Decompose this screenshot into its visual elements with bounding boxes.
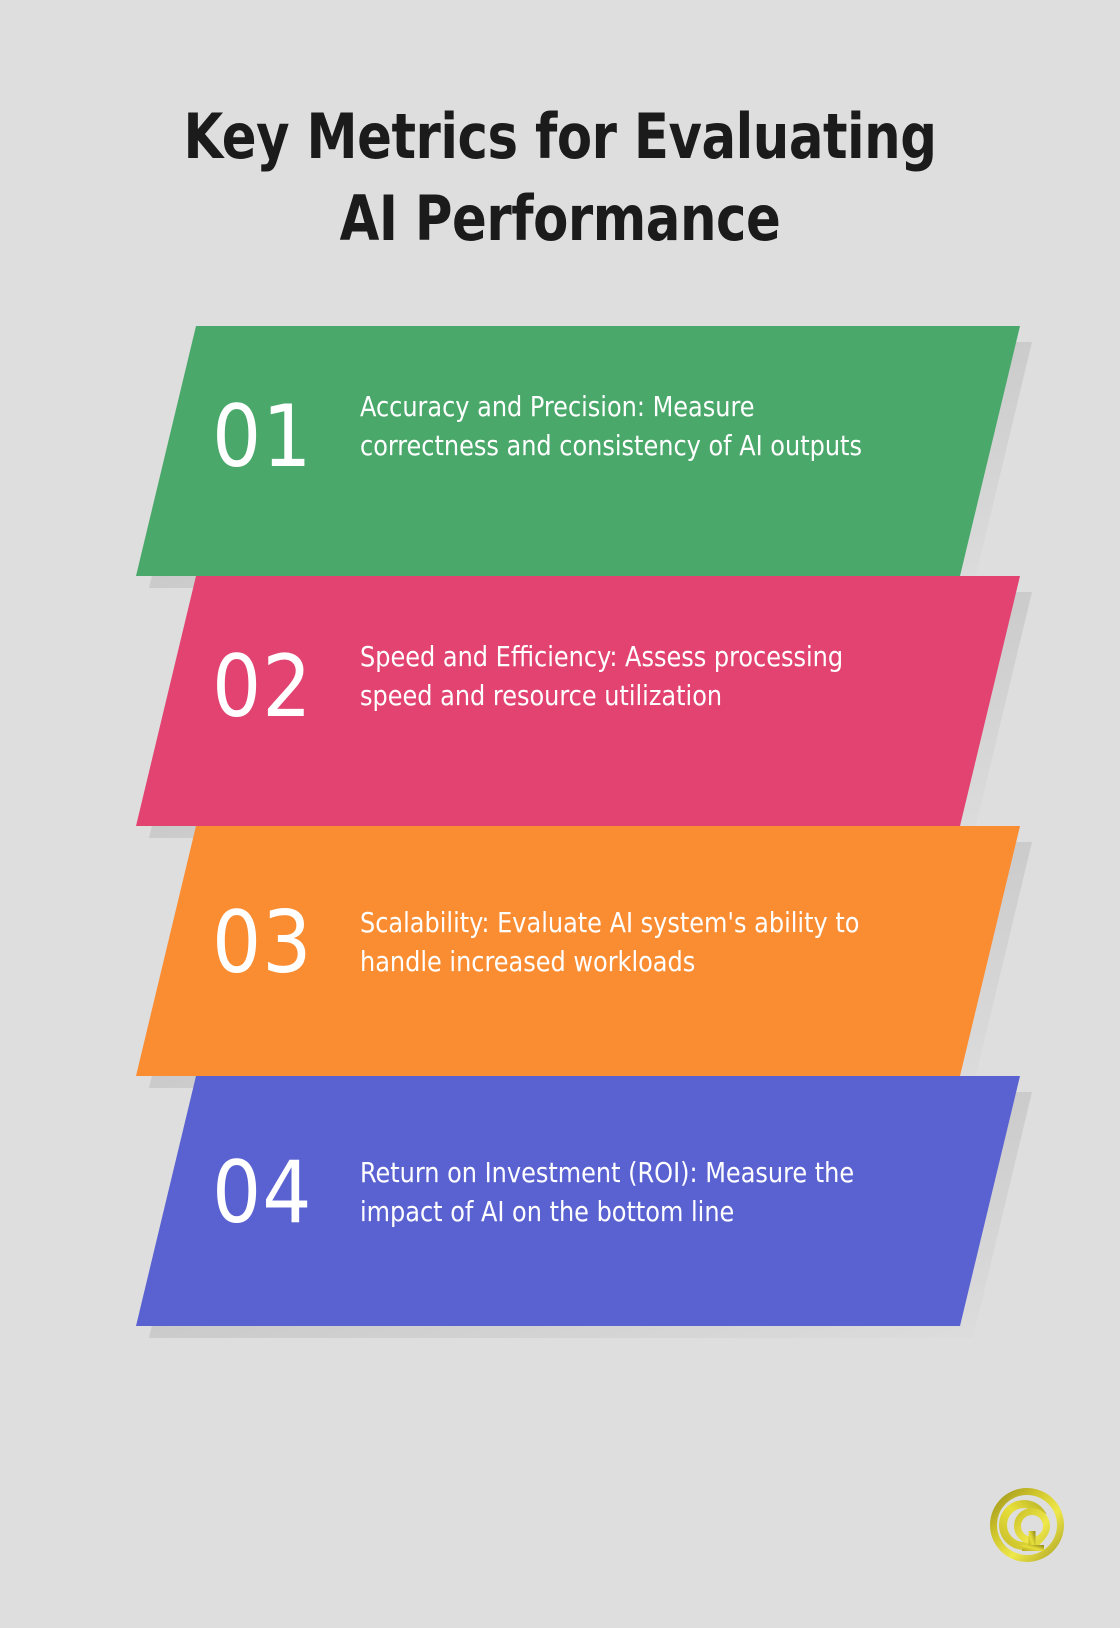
metrics-band-list: 01 Accuracy and Precision: Measure corre… xyxy=(0,326,1120,1326)
metric-band-04[interactable]: 04 Return on Investment (ROI): Measure t… xyxy=(0,1076,1120,1326)
band-number-03: 03 xyxy=(212,900,360,986)
title-block: Key Metrics for Evaluating AI Performanc… xyxy=(0,0,1120,260)
band-content-01: 01 Accuracy and Precision: Measure corre… xyxy=(0,326,1120,576)
band-number-04: 04 xyxy=(212,1150,360,1236)
metric-band-03[interactable]: 03 Scalability: Evaluate AI system's abi… xyxy=(0,826,1120,1076)
band-text-02: Speed and Efficiency: Assess processing … xyxy=(360,638,864,716)
metric-band-02[interactable]: 02 Speed and Efficiency: Assess processi… xyxy=(0,576,1120,826)
cq-monogram-logo[interactable] xyxy=(986,1484,1068,1566)
page-title: Key Metrics for Evaluating AI Performanc… xyxy=(146,96,974,260)
band-text-04: Return on Investment (ROI): Measure the … xyxy=(360,1154,903,1232)
band-number-02: 02 xyxy=(212,644,360,730)
cq-logo-icon xyxy=(986,1484,1068,1566)
band-text-01: Accuracy and Precision: Measure correctn… xyxy=(360,388,864,466)
metric-band-01[interactable]: 01 Accuracy and Precision: Measure corre… xyxy=(0,326,1120,576)
band-content-02: 02 Speed and Efficiency: Assess processi… xyxy=(0,576,1120,826)
band-text-03: Scalability: Evaluate AI system's abilit… xyxy=(360,904,903,982)
band-number-01: 01 xyxy=(212,394,360,480)
band-content-04: 04 Return on Investment (ROI): Measure t… xyxy=(0,1076,1120,1326)
band-content-03: 03 Scalability: Evaluate AI system's abi… xyxy=(0,826,1120,1076)
